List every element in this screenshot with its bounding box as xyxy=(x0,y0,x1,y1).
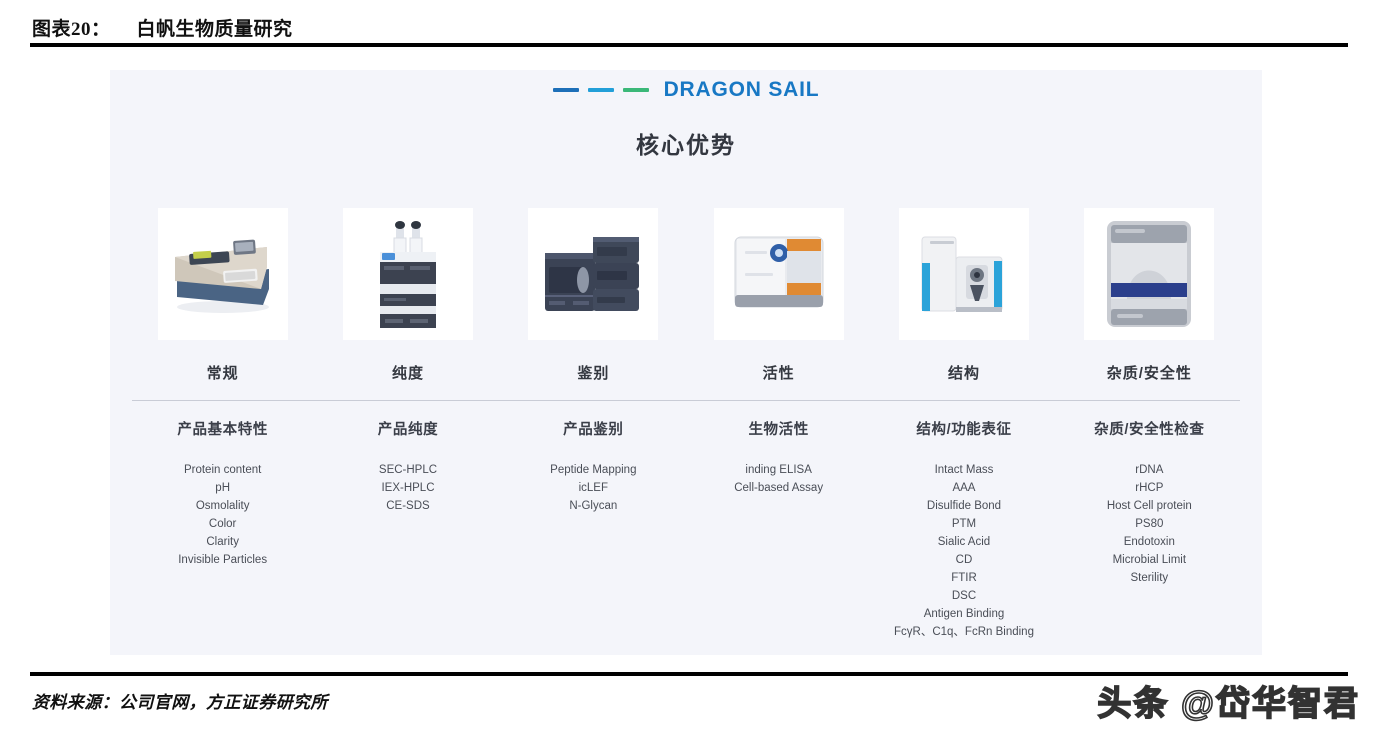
category-column-activity: 活性 xyxy=(686,208,871,383)
category-label: 杂质/安全性 xyxy=(1107,362,1192,383)
list-item: Osmolality xyxy=(196,497,250,515)
hplc-stack-instrument-icon xyxy=(354,216,462,332)
list-item: PS80 xyxy=(1135,515,1163,533)
figure-page: 图表20：白帆生物质量研究 DRAGON SAIL 核心优势 xyxy=(0,0,1378,734)
panel-title: 核心优势 xyxy=(110,126,1262,160)
detail-heading: 生物活性 xyxy=(748,418,808,439)
detail-column-structure: 结构/功能表征 Intact Mass AAA Disulfide Bond P… xyxy=(871,418,1056,641)
list-item: CD xyxy=(956,551,973,569)
category-label: 纯度 xyxy=(392,362,424,383)
detail-item-list: inding ELISA Cell-based Assay xyxy=(734,461,823,497)
list-item: inding ELISA xyxy=(745,461,812,479)
list-item: DSC xyxy=(952,587,976,605)
benchtop-analyzer-instrument-icon xyxy=(725,225,833,323)
detail-heading: 产品基本特性 xyxy=(177,418,268,439)
thumbnail-card xyxy=(899,208,1029,340)
list-item: Sterility xyxy=(1130,569,1168,587)
category-label: 鉴别 xyxy=(577,362,609,383)
list-item: pH xyxy=(215,479,230,497)
list-item: PTM xyxy=(952,515,976,533)
microplate-reader-instrument-icon xyxy=(163,219,283,329)
brand-dash-2-icon xyxy=(588,88,614,92)
mass-spectrometer-instrument-icon xyxy=(908,223,1020,325)
figure-title: 图表20：白帆生物质量研究 xyxy=(32,14,293,41)
detail-column-purity: 产品纯度 SEC-HPLC IEX-HPLC CE-SDS xyxy=(315,418,500,641)
list-item: SEC-HPLC xyxy=(379,461,437,479)
category-column-purity: 纯度 xyxy=(315,208,500,383)
detail-heading: 杂质/安全性检查 xyxy=(1094,418,1204,439)
brand-logo: DRAGON SAIL xyxy=(110,78,1262,102)
list-item: Protein content xyxy=(184,461,261,479)
list-item: rHCP xyxy=(1135,479,1163,497)
watermark-text: 头条 @岱华智君 xyxy=(1097,676,1360,725)
detail-row: 产品基本特性 Protein content pH Osmolality Col… xyxy=(130,418,1242,641)
list-item: Disulfide Bond xyxy=(927,497,1001,515)
top-rule-divider xyxy=(30,43,1348,47)
list-item: Sialic Acid xyxy=(938,533,990,551)
list-item: AAA xyxy=(952,479,975,497)
detail-heading: 产品纯度 xyxy=(378,418,438,439)
figure-number-label: 图表20： xyxy=(32,19,111,40)
detail-column-activity: 生物活性 inding ELISA Cell-based Assay xyxy=(686,418,871,641)
category-column-impurity-safety: 杂质/安全性 xyxy=(1057,208,1242,383)
list-item: N-Glycan xyxy=(569,497,617,515)
list-item: Host Cell protein xyxy=(1107,497,1192,515)
category-column-general: 常规 xyxy=(130,208,315,383)
detail-item-list: Protein content pH Osmolality Color Clar… xyxy=(178,461,267,569)
list-item: IEX-HPLC xyxy=(381,479,434,497)
list-item: FTIR xyxy=(951,569,977,587)
thumbnail-card xyxy=(1084,208,1214,340)
list-item: Color xyxy=(209,515,236,533)
brand-dash-1-icon xyxy=(553,88,579,92)
list-item: FcγR、C1q、FcRn Binding xyxy=(894,623,1034,641)
list-item: CE-SDS xyxy=(386,497,429,515)
detail-item-list: Intact Mass AAA Disulfide Bond PTM Siali… xyxy=(894,461,1034,641)
detail-item-list: SEC-HPLC IEX-HPLC CE-SDS xyxy=(379,461,437,515)
category-row: 常规 xyxy=(130,208,1242,383)
list-item: Antigen Binding xyxy=(924,605,1005,623)
category-label: 常规 xyxy=(207,362,239,383)
detail-item-list: Peptide Mapping icLEF N-Glycan xyxy=(550,461,636,515)
list-item: Intact Mass xyxy=(935,461,994,479)
brand-name-text: DRAGON SAIL xyxy=(664,78,820,102)
detail-heading: 结构/功能表征 xyxy=(916,418,1011,439)
list-item: icLEF xyxy=(579,479,608,497)
list-item: Cell-based Assay xyxy=(734,479,823,497)
thumbnail-card xyxy=(158,208,288,340)
list-item: Endotoxin xyxy=(1124,533,1175,551)
content-panel: DRAGON SAIL 核心优势 xyxy=(110,70,1262,655)
dark-modular-instrument-icon xyxy=(537,223,649,325)
category-label: 结构 xyxy=(948,362,980,383)
thumbnail-card xyxy=(528,208,658,340)
list-item: rDNA xyxy=(1135,461,1163,479)
thumbnail-card xyxy=(343,208,473,340)
detail-column-general: 产品基本特性 Protein content pH Osmolality Col… xyxy=(130,418,315,641)
brand-dash-3-icon xyxy=(623,88,649,92)
list-item: Peptide Mapping xyxy=(550,461,636,479)
source-note: 资料来源：公司官网，方正证券研究所 xyxy=(32,688,328,713)
section-divider xyxy=(132,400,1240,401)
detail-column-impurity-safety: 杂质/安全性检查 rDNA rHCP Host Cell protein PS8… xyxy=(1057,418,1242,641)
figure-title-text: 白帆生物质量研究 xyxy=(137,19,293,40)
list-item: Clarity xyxy=(206,533,239,551)
list-item: Microbial Limit xyxy=(1113,551,1187,569)
thumbnail-card xyxy=(714,208,844,340)
category-column-identification: 鉴别 xyxy=(501,208,686,383)
detail-column-identification: 产品鉴别 Peptide Mapping icLEF N-Glycan xyxy=(501,418,686,641)
detail-heading: 产品鉴别 xyxy=(563,418,623,439)
incubator-cabinet-instrument-icon xyxy=(1097,215,1201,333)
category-label: 活性 xyxy=(763,362,795,383)
category-column-structure: 结构 xyxy=(871,208,1056,383)
detail-item-list: rDNA rHCP Host Cell protein PS80 Endotox… xyxy=(1107,461,1192,587)
list-item: Invisible Particles xyxy=(178,551,267,569)
